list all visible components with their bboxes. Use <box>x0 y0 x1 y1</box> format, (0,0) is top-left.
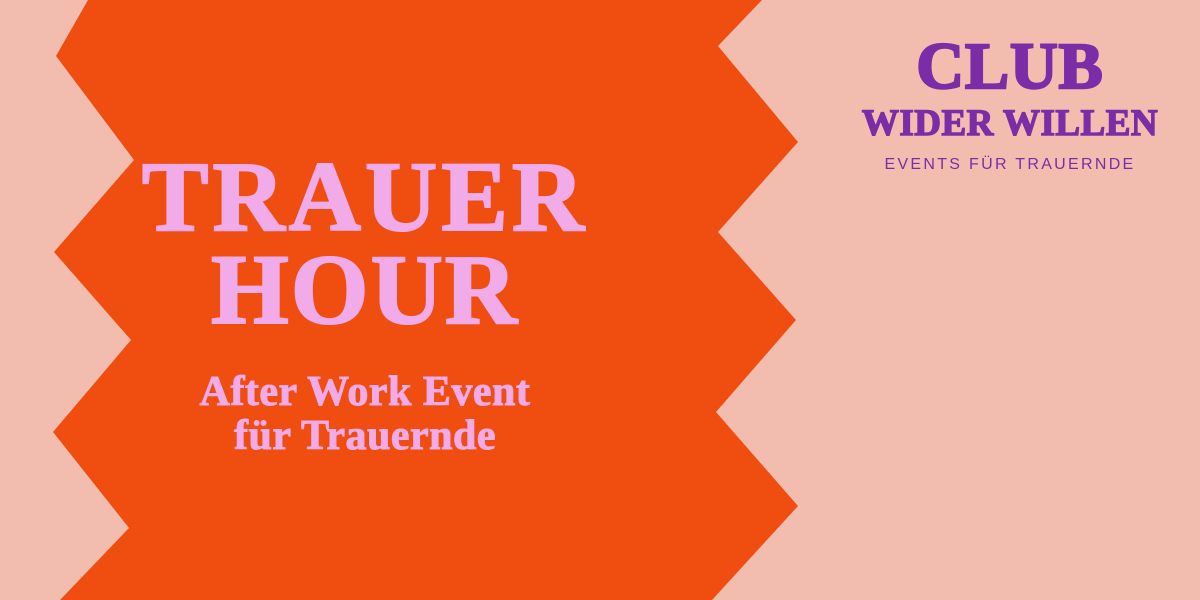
logo-word-wider-willen: WIDER WILLEN <box>860 105 1160 144</box>
event-title-line-2: HOUR <box>55 243 675 336</box>
event-subtitle-line-2: für Trauernde <box>55 414 675 458</box>
logo-tagline: EVENTS FÜR TRAUERNDE <box>860 156 1160 174</box>
event-subtitle-line-1: After Work Event <box>55 370 675 414</box>
brand-logo-lockup: CLUB WIDER WILLEN EVENTS FÜR TRAUERNDE <box>860 36 1160 174</box>
logo-word-club: CLUB <box>860 36 1160 99</box>
event-subtitle-block: After Work Event für Trauernde <box>55 370 675 458</box>
event-title-line-1: TRAUER <box>55 150 675 243</box>
headline-block: TRAUER HOUR After Work Event für Trauern… <box>55 150 675 458</box>
poster-canvas: TRAUER HOUR After Work Event für Trauern… <box>0 0 1200 600</box>
